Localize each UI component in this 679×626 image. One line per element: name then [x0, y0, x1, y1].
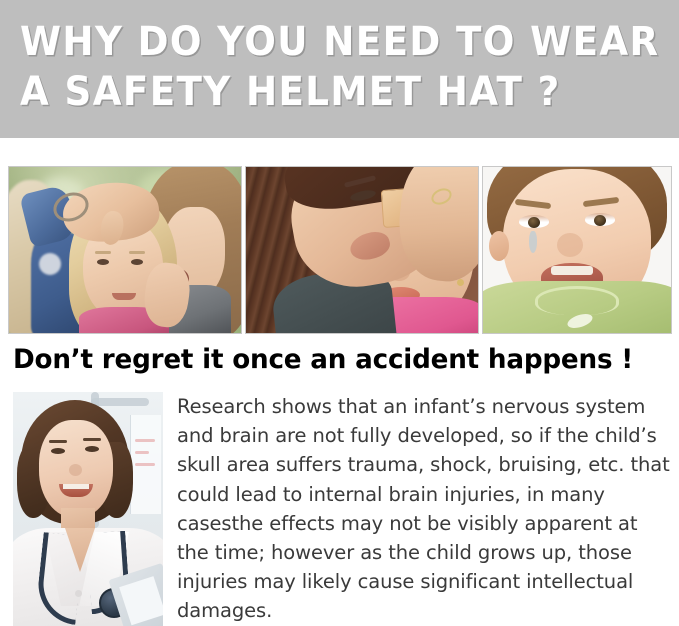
coat-button — [75, 590, 82, 597]
toddler-eye-left — [519, 215, 549, 228]
mother-kissing-bandaged-child-photo-content — [246, 167, 478, 333]
header-banner: WHY DO YOU NEED TO WEAR A SAFETY HELMET … — [0, 0, 679, 138]
teeth — [551, 266, 593, 275]
wall-chart — [130, 415, 161, 513]
section-subheading: Don’t regret it once an accident happens… — [13, 344, 653, 376]
clinic-rail-horizontal — [91, 398, 149, 406]
toddler-nose — [557, 233, 583, 257]
doctor-eye-right — [85, 446, 99, 452]
child-head-examination-photo — [8, 166, 242, 334]
doctor-eyebrow-right — [83, 438, 101, 441]
photo-strip — [0, 166, 679, 336]
girl-eyebrow-right — [129, 251, 145, 254]
page-title-line-2: A SAFETY HELMET HAT ? — [20, 67, 615, 117]
girl-eye-right — [131, 259, 143, 265]
page-title: WHY DO YOU NEED TO WEAR A SAFETY HELMET … — [20, 17, 615, 117]
girl-eyebrow-left — [95, 251, 111, 254]
page-title-line-1: WHY DO YOU NEED TO WEAR — [20, 17, 615, 67]
mother-kissing-bandaged-child-photo — [245, 166, 479, 334]
tear — [529, 231, 537, 253]
child-head-examination-photo-content — [9, 167, 241, 333]
toddler-ear — [489, 231, 509, 261]
crying-toddler-photo — [482, 166, 672, 334]
doctor-eye-left — [51, 448, 65, 454]
child-earring — [457, 279, 464, 286]
doctor-nose — [69, 464, 82, 476]
crying-toddler-photo-content — [483, 167, 671, 333]
doctor-portrait-photo — [13, 392, 163, 626]
shirt-collar — [535, 286, 619, 315]
body-paragraph: Research shows that an infant’s nervous … — [177, 392, 673, 626]
toddler-eye-right — [585, 213, 615, 226]
doctor-eyebrow-left — [49, 440, 67, 443]
girl-mouth — [112, 293, 136, 300]
girl-eye-left — [97, 259, 109, 265]
